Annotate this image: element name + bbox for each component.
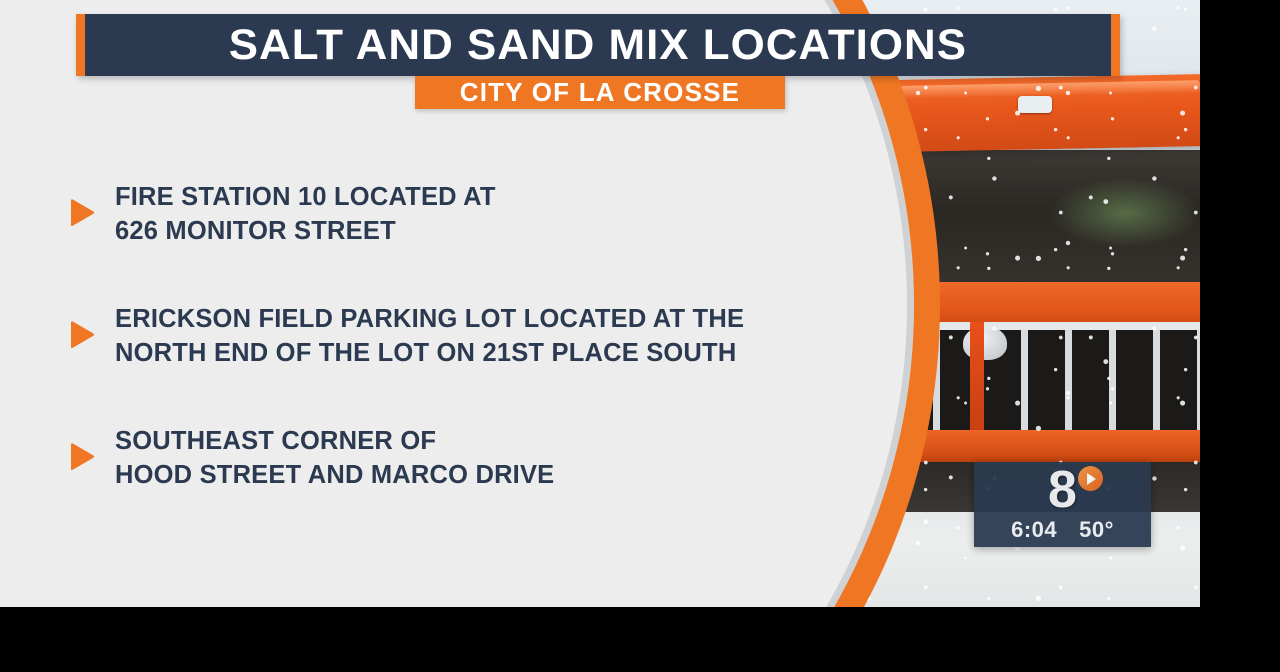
subtitle-bar: CITY OF LA CROSSE: [415, 76, 785, 109]
bug-readout: 6:04 50°: [1011, 517, 1114, 543]
graphic-stage: SALT AND SAND MIX LOCATIONS CITY OF LA C…: [0, 0, 1200, 607]
station-logo: 8: [1027, 464, 1099, 516]
banner-accent-bar-right: [1111, 14, 1120, 76]
list-item-line: FIRE STATION 10 LOCATED AT: [115, 180, 496, 214]
orange-triangle-bullet-icon: [68, 198, 96, 228]
current-time: 6:04: [1011, 517, 1057, 543]
page-title: SALT AND SAND MIX LOCATIONS: [229, 21, 967, 70]
station-bug: 8 6:04 50°: [974, 462, 1151, 547]
list-item-text: FIRE STATION 10 LOCATED AT 626 MONITOR S…: [115, 180, 496, 248]
list-item: FIRE STATION 10 LOCATED AT 626 MONITOR S…: [68, 180, 888, 248]
list-item-line: ERICKSON FIELD PARKING LOT LOCATED AT TH…: [115, 302, 744, 336]
list-item: ERICKSON FIELD PARKING LOT LOCATED AT TH…: [68, 302, 888, 370]
orange-triangle-bullet-icon: [68, 320, 96, 350]
title-banner: SALT AND SAND MIX LOCATIONS: [76, 14, 1120, 76]
channel-number: 8: [1048, 465, 1077, 515]
list-item-text: ERICKSON FIELD PARKING LOT LOCATED AT TH…: [115, 302, 744, 370]
list-item-line: HOOD STREET AND MARCO DRIVE: [115, 458, 554, 492]
orange-triangle-bullet-icon: [68, 442, 96, 472]
current-temperature: 50°: [1079, 517, 1114, 543]
list-item-line: NORTH END OF THE LOT ON 21ST PLACE SOUTH: [115, 336, 744, 370]
locations-list: FIRE STATION 10 LOCATED AT 626 MONITOR S…: [68, 180, 888, 546]
play-triangle-icon: [1078, 466, 1103, 491]
list-item: SOUTHEAST CORNER OF HOOD STREET AND MARC…: [68, 424, 888, 492]
list-item-line: SOUTHEAST CORNER OF: [115, 424, 554, 458]
broadcast-frame: SALT AND SAND MIX LOCATIONS CITY OF LA C…: [0, 0, 1280, 672]
banner-accent-bar-left: [76, 14, 85, 76]
subtitle-text: CITY OF LA CROSSE: [460, 77, 740, 108]
list-item-line: 626 MONITOR STREET: [115, 214, 496, 248]
list-item-text: SOUTHEAST CORNER OF HOOD STREET AND MARC…: [115, 424, 554, 492]
